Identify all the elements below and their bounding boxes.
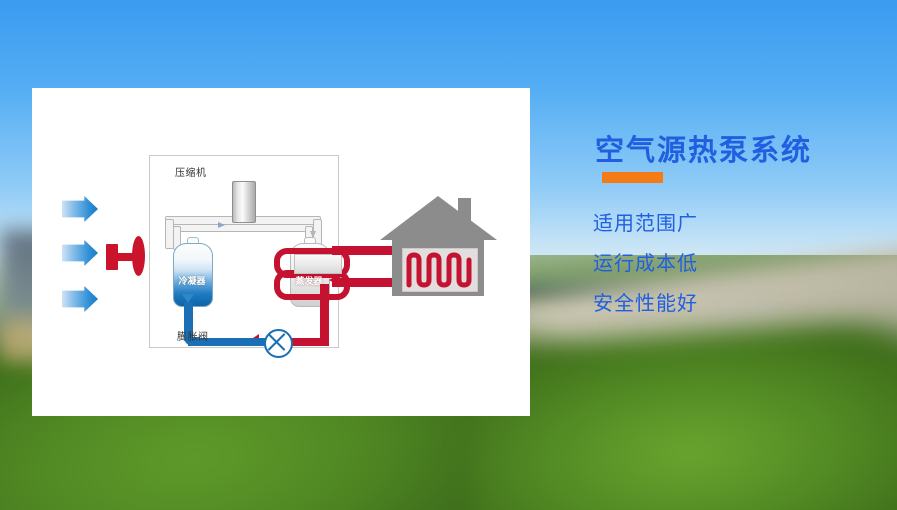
- expansion-valve-label: 膨胀阀: [177, 328, 209, 343]
- compressor-unit: [232, 181, 256, 223]
- expansion-valve-icon: [264, 329, 293, 358]
- air-flow-arrow: [62, 196, 98, 222]
- cold-flow-arrow: [182, 294, 194, 303]
- refrigerant-pipe-top-inner: [172, 224, 314, 232]
- house-icon: [380, 196, 497, 296]
- title-accent-bar: [602, 172, 663, 183]
- air-flow-arrow: [62, 286, 98, 312]
- hot-return-arrow: [329, 274, 339, 286]
- feature-bullet-1: 适用范围广: [593, 207, 698, 236]
- house-roof: [380, 196, 497, 240]
- diagram-card: 压缩机 冷凝器 蒸发器 膨胀阀: [32, 88, 530, 416]
- condenser-label: 冷凝器: [173, 274, 211, 287]
- evaporator-plate: [294, 254, 342, 274]
- feature-bullet-3: 安全性能好: [593, 287, 698, 316]
- hot-downcomer-pipe: [320, 284, 329, 346]
- fan-icon: [106, 236, 144, 276]
- air-flow-arrow: [62, 240, 98, 266]
- page-title: 空气源热泵系统: [595, 127, 812, 169]
- compressor-label: 压缩机: [175, 164, 207, 179]
- fan-blade: [132, 236, 145, 276]
- feature-bullet-2: 运行成本低: [593, 247, 698, 276]
- floor-heating-coil-icon: [406, 252, 472, 288]
- slide-canvas: 压缩机 冷凝器 蒸发器 膨胀阀: [0, 0, 897, 510]
- flow-direction-arrow: [218, 222, 225, 228]
